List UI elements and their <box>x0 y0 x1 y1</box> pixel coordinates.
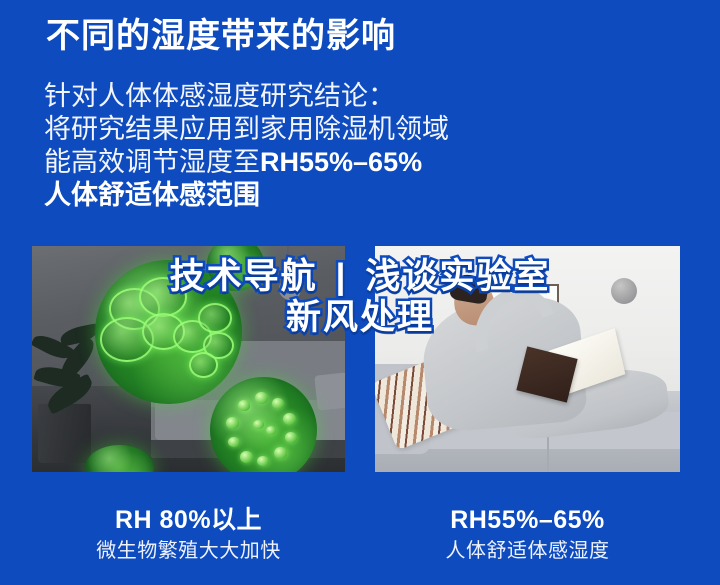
caption-subtitle-high-humidity: 微生物繁殖大大加快 <box>32 539 345 564</box>
pendant-lamp-cord <box>287 246 289 282</box>
wall-speaker-icon <box>611 278 637 304</box>
caption-title-comfort-humidity: RH55%–65% <box>375 505 680 535</box>
panel-image-high-humidity <box>32 246 345 472</box>
intro-line-3-prefix: 能高效调节湿度至 <box>44 147 260 177</box>
plant-pot <box>38 404 91 463</box>
intro-line-4: 人体舒适体感范围 <box>44 179 604 212</box>
caption-comfort-humidity: RH55%–65% 人体舒适体感湿度 <box>375 505 680 564</box>
pendant-lamp-icon <box>279 278 301 300</box>
microbe-blob-virus <box>210 377 316 472</box>
poster-root: 不同的湿度带来的影响 针对人体体感湿度研究结论： 将研究结果应用到家用除湿机领域… <box>0 0 720 585</box>
caption-high-humidity: RH 80%以上 微生物繁殖大大加快 <box>32 505 345 564</box>
caption-title-high-humidity: RH 80%以上 <box>32 505 345 535</box>
humidity-range-value: RH55%–65% <box>260 147 422 177</box>
intro-line-3: 能高效调节湿度至RH55%–65% <box>44 146 604 179</box>
dark-sofa-cushion <box>314 372 345 411</box>
panel-image-comfort-humidity <box>375 246 680 472</box>
page-title: 不同的湿度带来的影响 <box>46 14 396 58</box>
intro-line-2: 将研究结果应用到家用除湿机领域 <box>44 113 604 146</box>
intro-line-1: 针对人体体感湿度研究结论： <box>44 80 604 113</box>
caption-subtitle-comfort-humidity: 人体舒适体感湿度 <box>375 539 680 564</box>
intro-paragraph: 针对人体体感湿度研究结论： 将研究结果应用到家用除湿机领域 能高效调节湿度至RH… <box>44 80 604 212</box>
